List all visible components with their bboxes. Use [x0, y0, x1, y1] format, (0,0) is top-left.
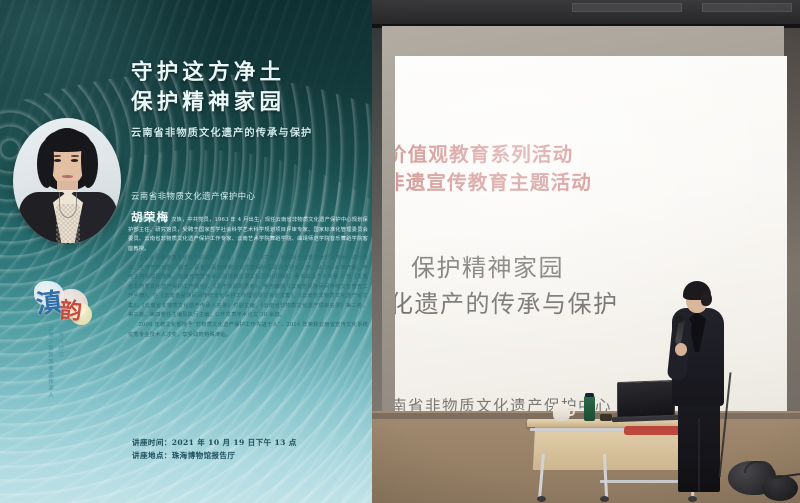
table-caster-3 — [688, 496, 697, 502]
desk-object — [600, 414, 612, 421]
poster-subtitle: 云南省非物质文化遗产的传承与保护 — [131, 124, 363, 139]
ceiling-panel-1 — [572, 3, 682, 12]
bio-paragraph-2: 主要从事非物质文化遗产的调查、研究、申报、评审工作，长期对全省非遗骨干及传承人进… — [128, 254, 368, 321]
logo-char-yun: 韵 — [59, 292, 83, 325]
dianyun-logo-icon: 滇 韵 — [36, 281, 100, 325]
slide-red-line-1: 价值观教育系列活动 — [395, 138, 573, 167]
slide-dark-line-2: 化遗产的传承与保护 — [395, 284, 619, 319]
lecture-time: 讲座时间：2021 年 10 月 19 日下午 13 点 — [132, 437, 297, 450]
equipment-bag-secondary — [762, 475, 798, 501]
portrait-mouth — [62, 175, 73, 178]
poster-brand-badge: 滇 韵 云南少数民族非遗传承人 珠海博物馆 — [36, 281, 110, 403]
badge-vertical-text: 云南少数民族非遗传承人 珠海博物馆 — [46, 325, 63, 399]
speaker-hair-back — [701, 292, 712, 306]
badge-vertical-line-2: 云南少数民族非遗传承人 — [46, 325, 53, 399]
microphone-head — [675, 314, 684, 323]
bio-paragraph-1: 胡荣梅，女，汉族，中共党员，1963 年 4 月出生，现任云南省非物质文化遗产保… — [128, 216, 368, 254]
poster-organization: 云南省非物质文化遗产保护中心 — [131, 190, 367, 202]
portrait-hair-left — [37, 140, 54, 188]
poster-footer-info: 讲座时间：2021 年 10 月 19 日下午 13 点 讲座地点：珠海博物馆报… — [132, 437, 297, 462]
portrait-eye-right — [71, 159, 78, 162]
speaker-hand — [675, 343, 687, 356]
table-caster-2 — [600, 496, 609, 502]
water-bottle — [584, 395, 595, 421]
portrait-eyebrow-left — [53, 155, 61, 157]
red-tray — [624, 426, 682, 435]
portrait-eye-left — [54, 159, 61, 162]
bio-paragraph-3: 2008 年被文化部授予“非物质文化遗产保护工作先进个人”，2014 年荣获云南… — [128, 321, 368, 340]
portrait-necklace — [59, 192, 77, 218]
poster-title-block: 守护这方净土 保护精神家园 云南省非物质文化遗产的传承与保护 — [131, 58, 363, 139]
lecture-place: 讲座地点：珠海博物馆报告厅 — [132, 450, 297, 463]
slide-red-line-2: 非遗宣传教育主题活动 — [395, 166, 592, 195]
laptop-screen — [617, 380, 675, 418]
image-stage: 守护这方净土 保护精神家园 云南省非物质文化遗产的传承与保护 云南省非物质文化遗… — [0, 0, 800, 503]
portrait-eyebrow-right — [71, 155, 79, 157]
poster-biography: 胡荣梅，女，汉族，中共党员，1963 年 4 月出生，现任云南省非物质文化遗产保… — [128, 216, 368, 340]
water-bottle-cap — [585, 393, 594, 397]
poster-title-line-2: 保护精神家园 — [131, 88, 363, 118]
lecture-photograph: 价值观教育系列活动 非遗宣传教育主题活动 保护精神家园 化遗产的传承与保护 南省… — [372, 0, 800, 503]
portrait-hair-right — [81, 140, 98, 188]
lecture-poster: 守护这方净土 保护精神家园 云南省非物质文化遗产的传承与保护 云南省非物质文化遗… — [0, 0, 372, 503]
equipment-bag-strap — [744, 461, 774, 473]
table-caster-1 — [537, 496, 546, 502]
ceiling-panel-2 — [702, 3, 792, 12]
slide-dark-line-1: 保护精神家园 — [411, 248, 564, 283]
speaker-leg-split — [698, 418, 700, 492]
poster-title-line-1: 守护这方净土 — [131, 58, 363, 88]
badge-vertical-line-1: 珠海博物馆 — [56, 325, 63, 399]
speaker-portrait-avatar — [13, 118, 121, 244]
